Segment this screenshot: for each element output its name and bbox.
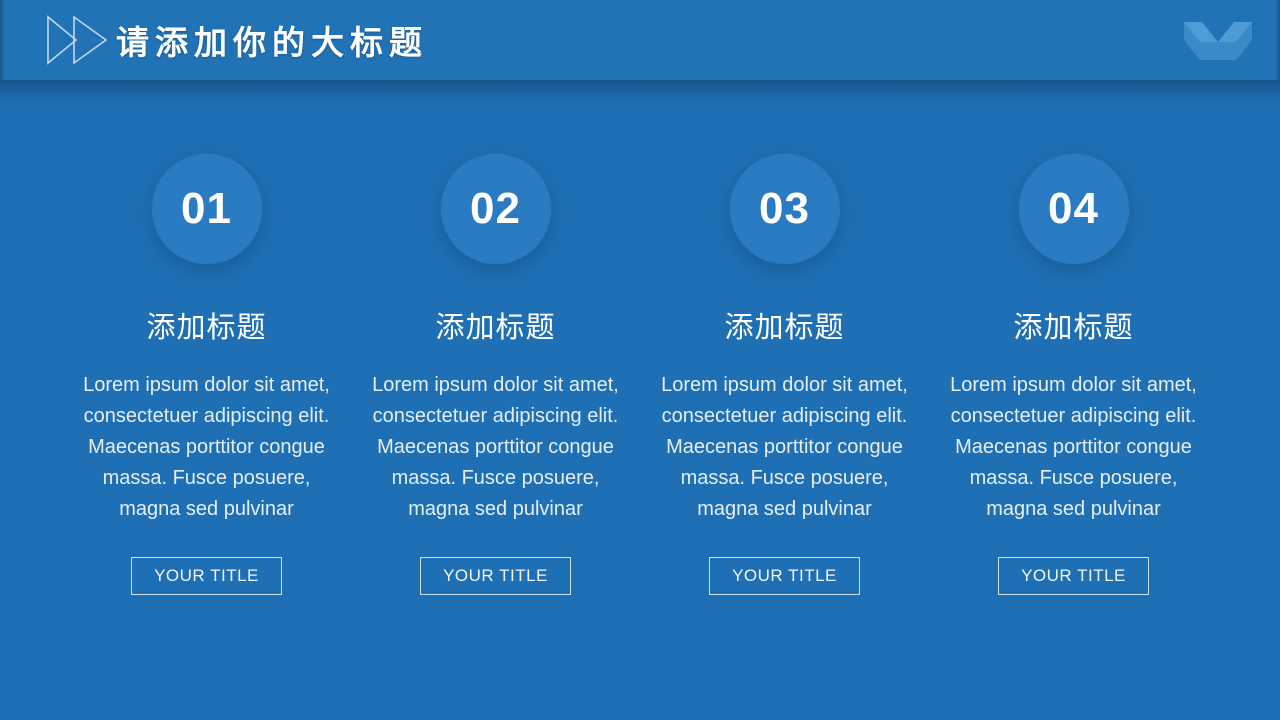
header-bar: 请添加你的大标题 — [0, 0, 1280, 80]
number-badge-label: 03 — [759, 187, 810, 231]
your-title-button-1[interactable]: YOUR TITLE — [131, 557, 282, 595]
column-title-3: 添加标题 — [724, 314, 844, 343]
number-badge-4[interactable]: 04 — [1019, 154, 1129, 264]
feature-column-1: 01 添加标题 Lorem ipsum dolor sit amet, cons… — [62, 140, 351, 595]
feature-columns: 01 添加标题 Lorem ipsum dolor sit amet, cons… — [0, 140, 1280, 595]
column-body-1: Lorem ipsum dolor sit amet, consectetuer… — [70, 370, 344, 525]
fast-forward-icon — [46, 14, 110, 66]
number-badge-label: 02 — [470, 187, 521, 231]
your-title-button-2[interactable]: YOUR TITLE — [420, 557, 571, 595]
column-title-2: 添加标题 — [435, 314, 555, 343]
header-left-edge-shadow — [0, 0, 5, 80]
number-badge-label: 01 — [181, 187, 232, 231]
column-body-2: Lorem ipsum dolor sit amet, consectetuer… — [359, 370, 633, 525]
column-title-1: 添加标题 — [146, 314, 266, 343]
feature-column-3: 03 添加标题 Lorem ipsum dolor sit amet, cons… — [640, 140, 929, 595]
number-badge-1[interactable]: 01 — [152, 154, 262, 264]
w-logo-icon — [1178, 12, 1258, 66]
your-title-button-4[interactable]: YOUR TITLE — [998, 557, 1149, 595]
feature-column-2: 02 添加标题 Lorem ipsum dolor sit amet, cons… — [351, 140, 640, 595]
column-body-4: Lorem ipsum dolor sit amet, consectetuer… — [937, 370, 1211, 525]
number-badge-label: 04 — [1048, 187, 1099, 231]
your-title-button-3[interactable]: YOUR TITLE — [709, 557, 860, 595]
column-title-4: 添加标题 — [1013, 314, 1133, 343]
header-right-edge-shadow — [1275, 0, 1280, 80]
column-body-3: Lorem ipsum dolor sit amet, consectetuer… — [648, 370, 922, 525]
number-badge-3[interactable]: 03 — [730, 154, 840, 264]
feature-column-4: 04 添加标题 Lorem ipsum dolor sit amet, cons… — [929, 140, 1218, 595]
header-drop-shadow — [0, 80, 1280, 102]
number-badge-2[interactable]: 02 — [441, 154, 551, 264]
page-title: 请添加你的大标题 — [116, 16, 428, 64]
